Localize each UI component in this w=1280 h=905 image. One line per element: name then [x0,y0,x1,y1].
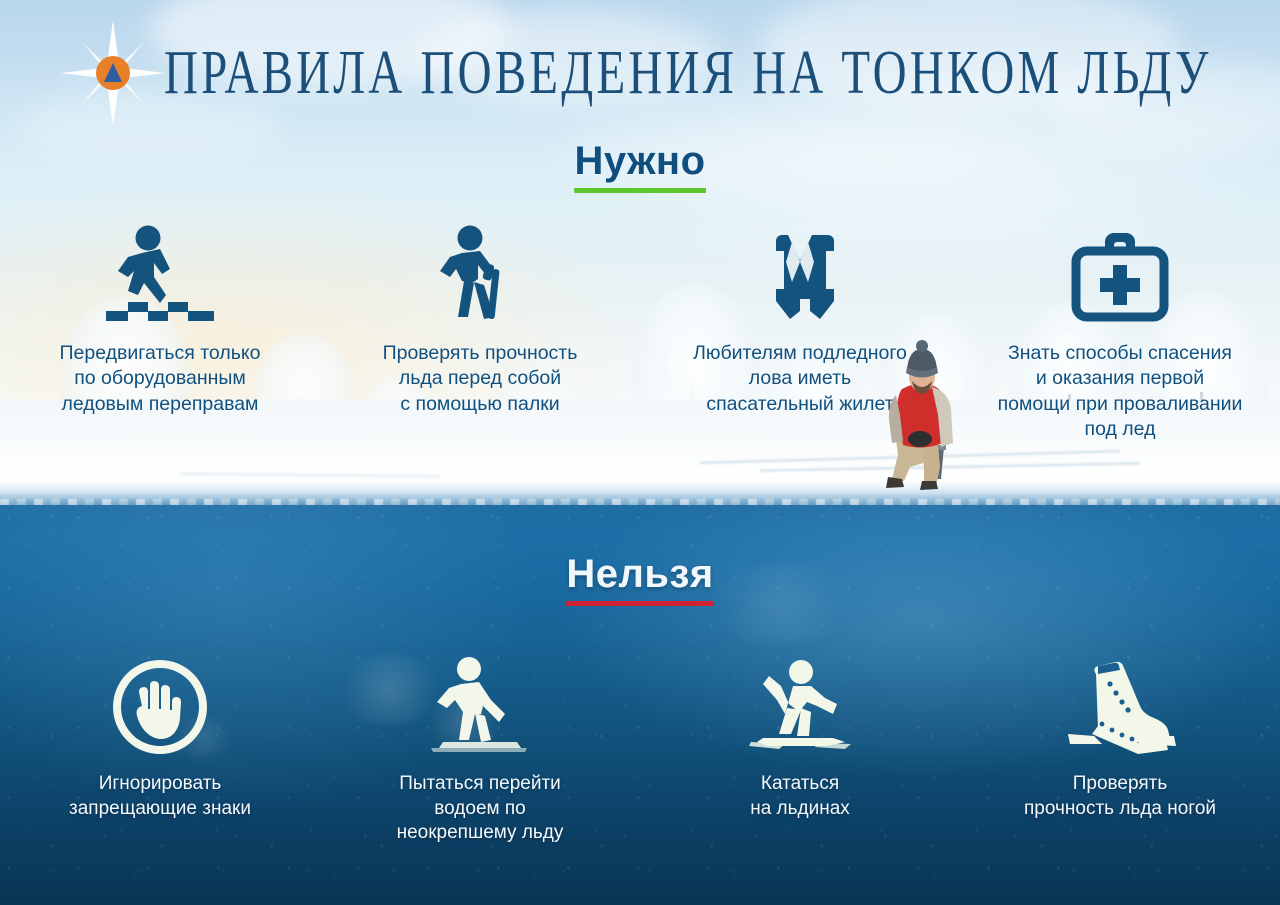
poster-root: ПРАВИЛА ПОВЕДЕНИЯ НА ТОНКОМ ЛЬДУ Нужно П… [0,0,1280,905]
forbid-item-caption: Пытаться перейти водоем по неокрепшему л… [345,772,615,846]
need-item-caption: Знать способы спасения и оказания первой… [975,341,1265,442]
first-aid-kit-icon [1070,215,1170,325]
forbid-item-caption: Игнорировать запрещающие знаки [25,772,295,821]
ice-shelf-edge [0,480,1280,508]
need-item: Знать способы спасения и оказания первой… [960,215,1280,442]
section-rule-red [566,601,713,606]
person-walking-on-ice-crossing-icon [102,215,218,325]
ice-fisherman-photo [866,335,978,495]
forbid-item-caption: Проверять прочность льда ногой [970,772,1270,821]
need-items-grid: Передвигаться только по оборудованным ле… [0,215,1280,442]
no-entry-hand-icon [111,648,209,756]
person-with-stick-icon [428,215,532,325]
need-item-caption: Передвигаться только по оборудованным ле… [25,341,295,417]
forbid-item: Игнорировать запрещающие знаки [0,648,320,846]
boot-breaking-ice-icon [1062,648,1178,756]
forbid-item: Проверять прочность льда ногой [960,648,1280,846]
need-item-caption: Проверять прочность льда перед собой с п… [345,341,615,417]
forbid-item: Пытаться перейти водоем по неокрепшему л… [320,648,640,846]
section-rule-green [574,188,705,193]
need-item: Передвигаться только по оборудованным ле… [0,215,320,442]
person-riding-ice-floe-icon [745,648,855,756]
section-heading-forbid-label: Нельзя [566,552,713,596]
forbid-items-grid: Игнорировать запрещающие знаки Пытаться … [0,648,1280,846]
section-heading-need-label: Нужно [574,139,705,183]
need-item: Проверять прочность льда перед собой с п… [320,215,640,442]
forbid-item: Кататься на льдинах [640,648,960,846]
emercom-star-logo [58,20,168,126]
poster-header: ПРАВИЛА ПОВЕДЕНИЯ НА ТОНКОМ ЛЬДУ [0,20,1280,126]
person-walking-thin-ice-icon [429,648,531,756]
life-vest-icon [755,215,845,325]
forbid-item-caption: Кататься на льдинах [665,772,935,821]
section-heading-need: Нужно [0,139,1280,193]
page-title: ПРАВИЛА ПОВЕДЕНИЯ НА ТОНКОМ ЛЬДУ [164,37,1212,108]
section-heading-forbid: Нельзя [0,552,1280,606]
